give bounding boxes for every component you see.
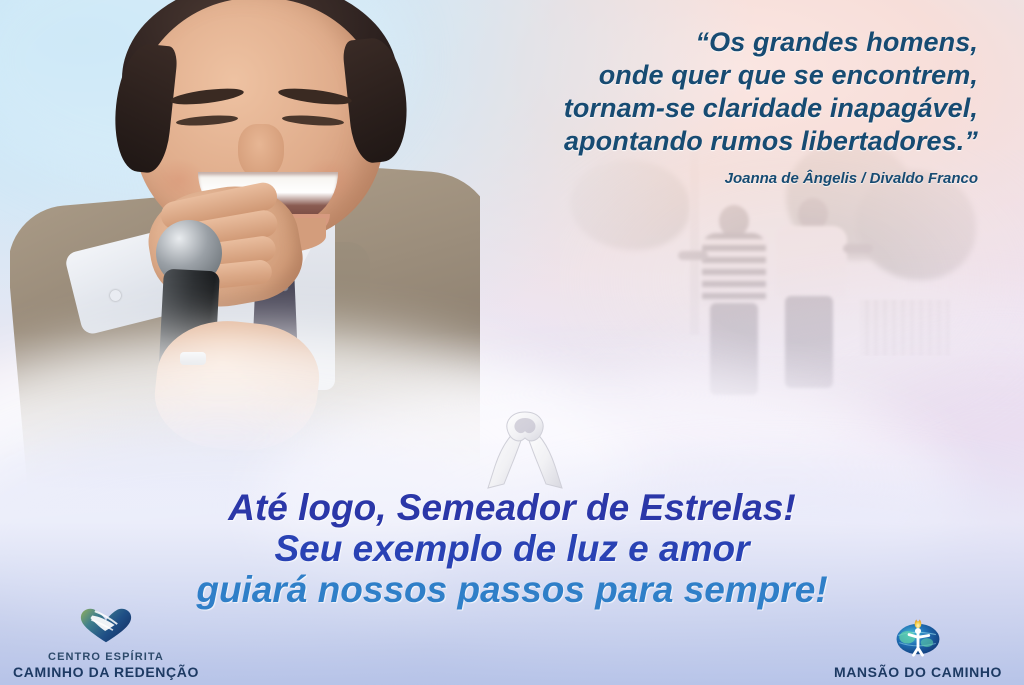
headline-block: Até logo, Semeador de Estrelas! Seu exem…	[0, 487, 1024, 610]
photo-tree	[786, 140, 916, 260]
headline-line-2: Seu exemplo de luz e amor	[0, 528, 1024, 569]
headline-line-3: guiará nossos passos para sempre!	[0, 569, 1024, 610]
suit-shoulder-left	[3, 194, 218, 509]
lower-lip	[206, 214, 330, 234]
photo-ground	[560, 356, 1024, 440]
dress-shirt	[215, 210, 335, 390]
quote-line-1: “Os grandes homens,	[358, 26, 978, 59]
cuff-button	[110, 290, 121, 301]
globe-figure-torch-icon	[818, 614, 1018, 662]
quote-line-3: tornam-se claridade inapagável,	[358, 92, 978, 125]
quote-line-2: onde quer que se encontrem,	[358, 59, 978, 92]
eye-right-closed	[282, 114, 344, 127]
ring	[180, 352, 206, 365]
photo-person	[700, 205, 768, 390]
suit-shoulder-right	[299, 164, 502, 506]
microphone-body	[156, 269, 220, 422]
photo-person	[775, 198, 851, 390]
finger	[171, 259, 273, 293]
finger	[165, 234, 278, 275]
logo-centro-espirita[interactable]: CENTRO ESPÍRITA CAMINHO DA REDENÇÃO	[6, 606, 206, 680]
cloud-layer	[0, 0, 400, 190]
eye-left-closed	[176, 114, 238, 127]
suit-body	[160, 242, 370, 502]
hand-resting-on-chin	[141, 176, 309, 318]
photo-fence	[860, 300, 950, 356]
quote-attribution: Joanna de Ângelis / Divaldo Franco	[358, 170, 978, 187]
photo-wall	[560, 300, 1024, 356]
logo-right-line-1: MANSÃO DO CAMINHO	[818, 664, 1018, 680]
cheek-right	[302, 158, 356, 202]
nose	[238, 124, 284, 180]
chin	[210, 218, 326, 254]
quote-text: “Os grandes homens, onde quer que se enc…	[358, 26, 978, 158]
hair	[122, 0, 398, 120]
shirt-collar-left	[206, 204, 258, 266]
finger	[161, 208, 280, 255]
photo-sky	[560, 150, 1024, 440]
heart-hands-icon	[6, 606, 206, 649]
face	[134, 0, 384, 243]
shirt-collar-right	[282, 204, 334, 266]
ear-left	[122, 104, 152, 152]
headline-line-1: Até logo, Semeador de Estrelas!	[0, 487, 1024, 528]
tribute-poster: “Os grandes homens, onde quer que se enc…	[0, 0, 1024, 685]
necktie	[248, 228, 302, 403]
eyebrow-left	[169, 86, 244, 108]
eyebrow-right	[277, 86, 352, 108]
smiling-mouth	[198, 172, 338, 226]
cheek-left	[152, 158, 206, 202]
white-mourning-ribbon-icon	[486, 408, 564, 492]
logo-mansao-do-caminho[interactable]: MANSÃO DO CAMINHO	[818, 614, 1018, 680]
shirt-cuff	[64, 224, 207, 336]
microphone-head-icon	[156, 220, 222, 286]
neck	[232, 178, 322, 248]
hair-side-left	[109, 41, 178, 174]
finger	[158, 180, 279, 232]
quote-line-4: apontando rumos libertadores.”	[358, 125, 978, 158]
background-photo-two-people-walking	[560, 150, 1024, 440]
logo-left-line-2: CAMINHO DA REDENÇÃO	[6, 664, 206, 680]
logo-left-line-1: CENTRO ESPÍRITA	[6, 651, 206, 664]
hand-holding-microphone	[150, 314, 324, 458]
